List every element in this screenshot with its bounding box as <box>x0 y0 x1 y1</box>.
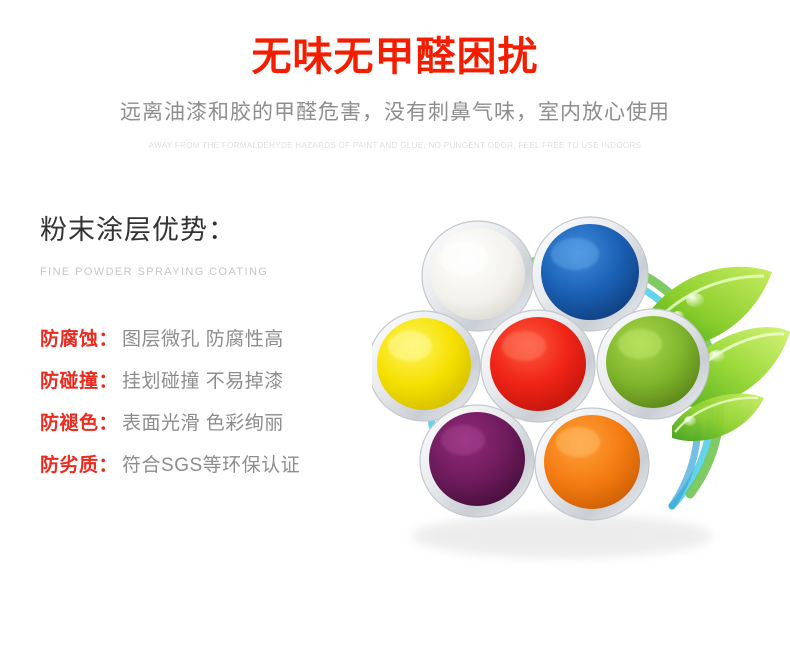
feature-key: 防褪色： <box>40 413 118 434</box>
orange-powder-jar <box>535 408 649 520</box>
page-title: 无味无甲醛困扰 <box>0 33 790 81</box>
section-heading-english: FINE POWDER SPRAYING COATING <box>40 265 380 279</box>
section-heading: 粉末涂层优势： <box>40 212 380 248</box>
list-item: 防劣质：符合SGS等环保认证 <box>40 451 380 482</box>
product-detail-page: 无味无甲醛困扰 远离油漆和胶的甲醛危害，没有刺鼻气味，室内放心使用 AWAY F… <box>0 0 790 662</box>
feature-key: 防劣质： <box>40 455 118 476</box>
water-droplet-icon <box>686 293 704 307</box>
list-item: 防腐蚀：图层微孔 防腐性高 <box>40 325 380 356</box>
feature-value: 符合SGS等环保认证 <box>122 455 300 476</box>
feature-list: 防腐蚀：图层微孔 防腐性高 防碰撞：挂划碰撞 不易掉漆 防褪色：表面光滑 色彩绚… <box>40 325 380 482</box>
feature-value: 图层微孔 防腐性高 <box>122 329 284 350</box>
powder-jars-illustration <box>372 176 790 576</box>
hero-subtitle-english: AWAY FROM THE FORMALDEHYDE HAZARDS OF PA… <box>0 140 790 152</box>
feature-key: 防腐蚀： <box>40 329 118 350</box>
hero-banner: 无味无甲醛困扰 远离油漆和胶的甲醛危害，没有刺鼻气味，室内放心使用 AWAY F… <box>0 0 790 172</box>
drop-shadow <box>412 514 712 558</box>
feature-value: 表面光滑 色彩绚丽 <box>122 413 284 434</box>
yellow-powder-jar <box>372 311 480 421</box>
red-powder-jar <box>481 310 595 422</box>
purple-powder-jar <box>420 405 534 517</box>
powder-jars-svg <box>372 176 790 576</box>
water-droplet-icon <box>709 350 725 362</box>
feature-value: 挂划碰撞 不易掉漆 <box>122 371 284 392</box>
green-powder-jar <box>597 309 709 419</box>
feature-key: 防碰撞： <box>40 371 118 392</box>
list-item: 防碰撞：挂划碰撞 不易掉漆 <box>40 367 380 398</box>
water-droplet-icon <box>684 416 696 426</box>
advantages-panel: 粉末涂层优势： FINE POWDER SPRAYING COATING 防腐蚀… <box>40 212 380 482</box>
hero-subtitle: 远离油漆和胶的甲醛危害，没有刺鼻气味，室内放心使用 <box>0 98 790 128</box>
list-item: 防褪色：表面光滑 色彩绚丽 <box>40 409 380 440</box>
